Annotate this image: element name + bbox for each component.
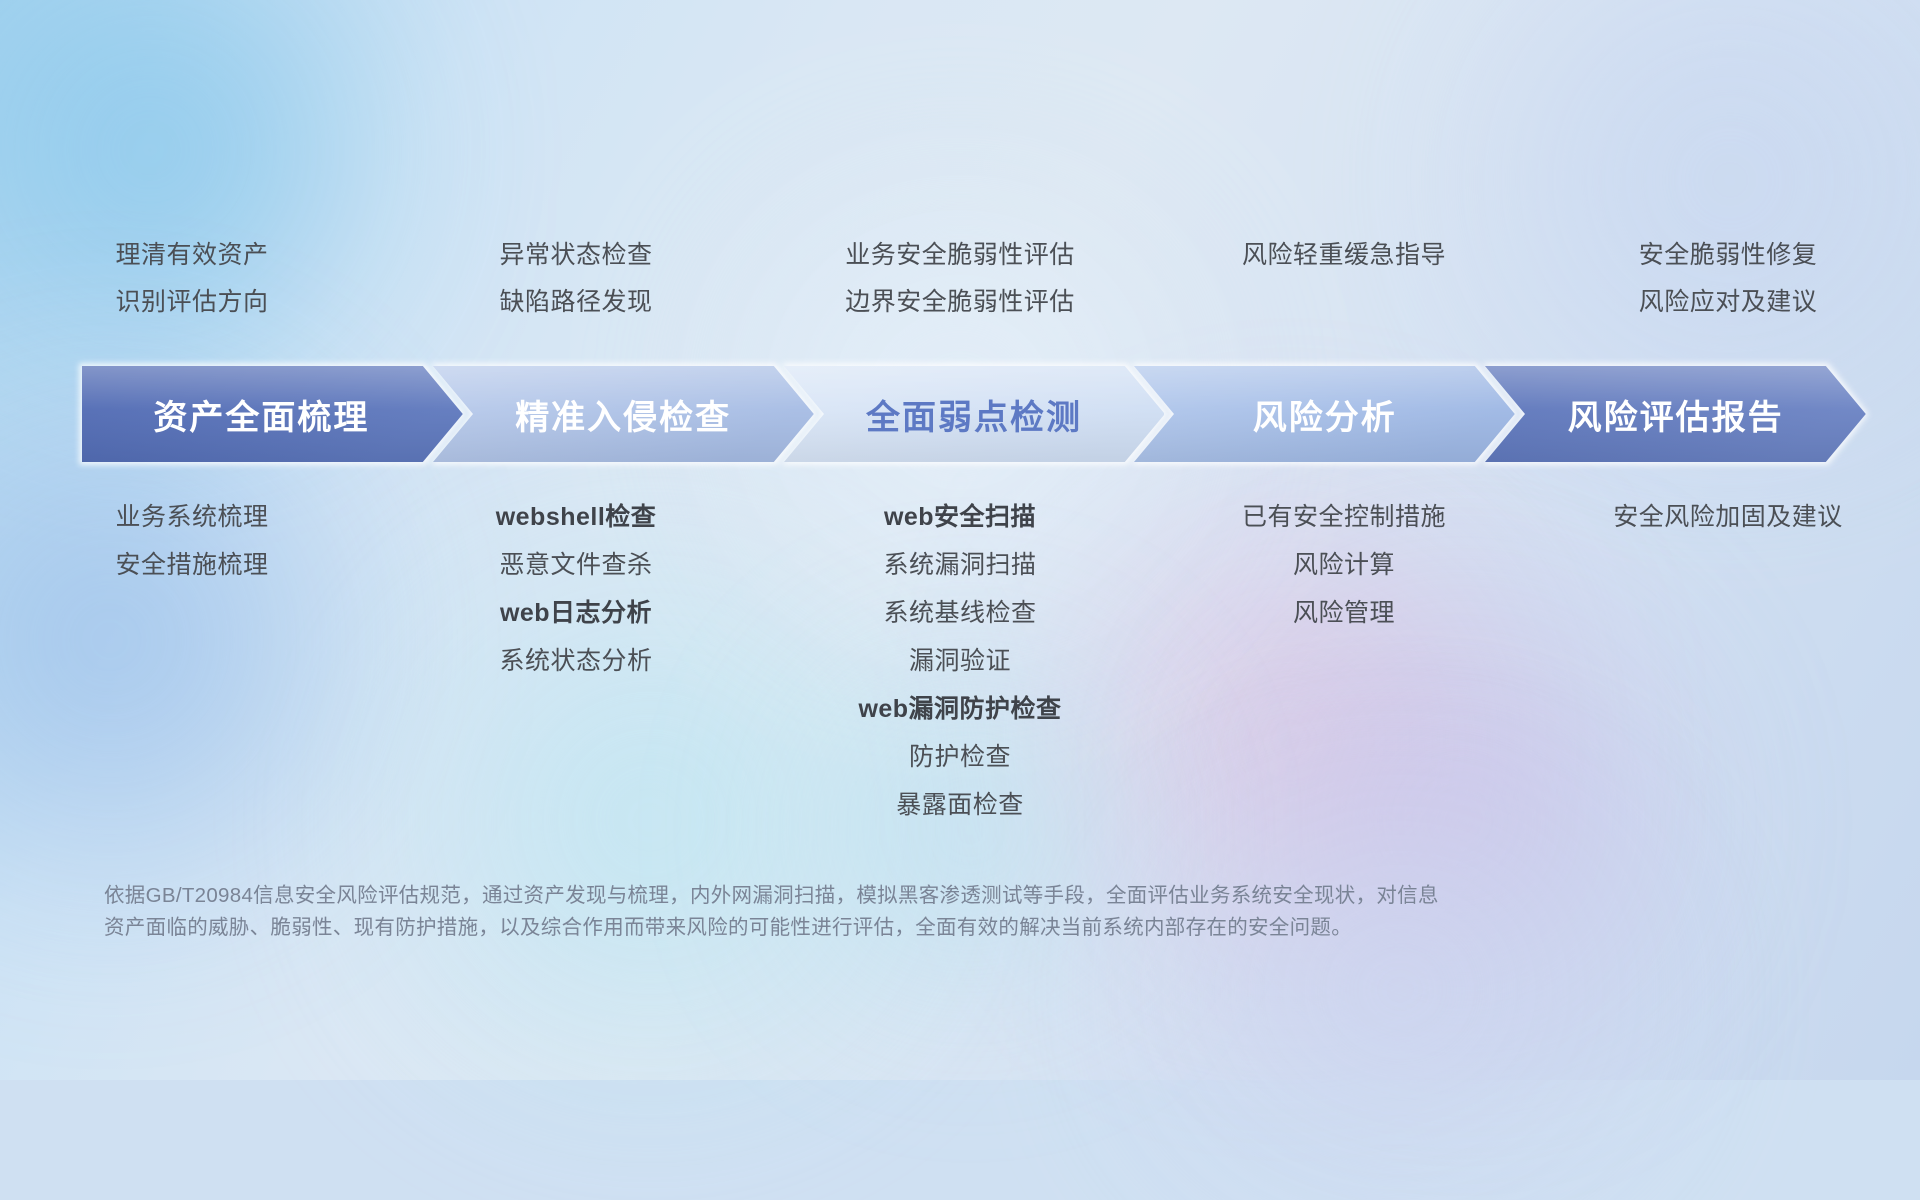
- top-item: 安全脆弱性修复: [1639, 243, 1818, 268]
- bottom-item: 系统状态分析: [499, 649, 652, 674]
- bottom-item: 系统漏洞扫描: [883, 553, 1036, 578]
- bottom-item: 已有安全控制措施: [1242, 505, 1446, 530]
- bottom-item: webshell检查: [496, 505, 657, 530]
- bottom-item: 风险管理: [1293, 601, 1395, 626]
- bottom-item: 安全风险加固及建议: [1613, 505, 1843, 530]
- top-item: 风险轻重缓急指导: [1242, 243, 1446, 268]
- footer-description: 依据GB/T20984信息安全风险评估规范，通过资产发现与梳理，内外网漏洞扫描，…: [104, 880, 1624, 944]
- chevron-label: 风险分析: [1253, 390, 1397, 439]
- chevron-label: 风险评估报告: [1568, 390, 1784, 439]
- bottom-item: 风险计算: [1293, 553, 1395, 578]
- footer-line-1: 依据GB/T20984信息安全风险评估规范，通过资产发现与梳理，内外网漏洞扫描，…: [104, 880, 1624, 912]
- chevron-weakness-detection[interactable]: 全面弱点检测: [784, 366, 1165, 462]
- bottom-item: 漏洞验证: [909, 649, 1011, 674]
- bottom-items-column-risk-analysis: 已有安全控制措施风险计算风险管理: [1152, 505, 1536, 649]
- top-items-column-assessment-report: 安全脆弱性修复风险应对及建议: [1536, 243, 1920, 315]
- process-chevron-band: 资产全面梳理 精准入侵检查: [82, 366, 1866, 462]
- top-items-column-asset-inventory: 理清有效资产识别评估方向: [0, 243, 384, 315]
- top-item: 边界安全脆弱性评估: [845, 290, 1075, 315]
- bottom-item: 安全措施梳理: [115, 553, 268, 578]
- top-item: 识别评估方向: [115, 290, 268, 315]
- bottom-items-column-assessment-report: 安全风险加固及建议: [1536, 505, 1920, 553]
- bottom-items-column-weakness-detection: web安全扫描系统漏洞扫描系统基线检查漏洞验证web漏洞防护检查防护检查暴露面检…: [768, 505, 1152, 841]
- chevron-risk-analysis[interactable]: 风险分析: [1134, 366, 1515, 462]
- bottom-item: web安全扫描: [884, 505, 1036, 530]
- bottom-item: web日志分析: [500, 601, 652, 626]
- chevron-asset-inventory[interactable]: 资产全面梳理: [82, 366, 463, 462]
- top-item: 异常状态检查: [499, 243, 652, 268]
- top-items-column-weakness-detection: 业务安全脆弱性评估边界安全脆弱性评估: [768, 243, 1152, 315]
- chevron-label: 精准入侵检查: [515, 390, 731, 439]
- chevron-label: 资产全面梳理: [153, 390, 369, 439]
- top-items-row: 理清有效资产识别评估方向异常状态检查缺陷路径发现业务安全脆弱性评估边界安全脆弱性…: [0, 243, 1920, 315]
- chevron-label: 全面弱点检测: [866, 390, 1082, 439]
- top-items-column-risk-analysis: 风险轻重缓急指导: [1152, 243, 1536, 315]
- top-item: 风险应对及建议: [1639, 290, 1818, 315]
- top-item: 业务安全脆弱性评估: [845, 243, 1075, 268]
- bottom-item: 业务系统梳理: [115, 505, 268, 530]
- top-items-column-intrusion-check: 异常状态检查缺陷路径发现: [384, 243, 768, 315]
- top-item: 缺陷路径发现: [499, 290, 652, 315]
- bottom-item: 恶意文件查杀: [499, 553, 652, 578]
- bottom-items-column-intrusion-check: webshell检查恶意文件查杀web日志分析系统状态分析: [384, 505, 768, 697]
- bottom-items-column-asset-inventory: 业务系统梳理安全措施梳理: [0, 505, 384, 601]
- bottom-item: 防护检查: [909, 745, 1011, 770]
- chevron-intrusion-check[interactable]: 精准入侵检查: [433, 366, 814, 462]
- process-diagram: 理清有效资产识别评估方向异常状态检查缺陷路径发现业务安全脆弱性评估边界安全脆弱性…: [0, 0, 1920, 1080]
- chevron-assessment-report[interactable]: 风险评估报告: [1485, 366, 1866, 462]
- top-item: 理清有效资产: [115, 243, 268, 268]
- bottom-item: 系统基线检查: [883, 601, 1036, 626]
- footer-line-2: 资产面临的威胁、脆弱性、现有防护措施，以及综合作用而带来风险的可能性进行评估，全…: [104, 912, 1624, 944]
- bottom-item: 暴露面检查: [896, 793, 1024, 818]
- bottom-item: web漏洞防护检查: [858, 697, 1061, 722]
- bottom-items-row: 业务系统梳理安全措施梳理webshell检查恶意文件查杀web日志分析系统状态分…: [0, 505, 1920, 841]
